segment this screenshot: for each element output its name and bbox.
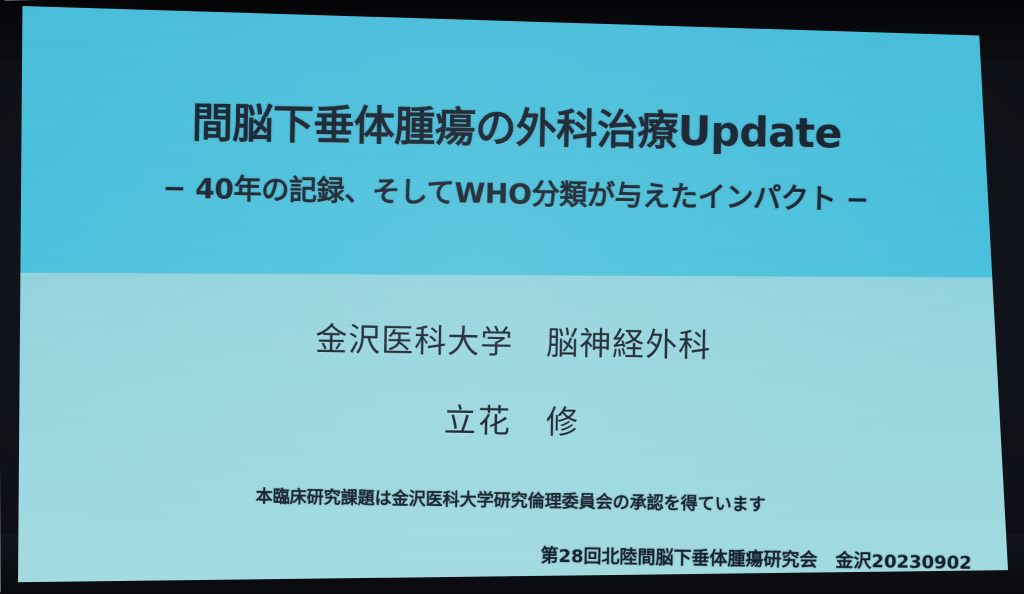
presentation-slide: 間脳下垂体腫瘍の外科治療Update − 40年の記録、そしてWHO分類が与えた… — [18, 6, 1010, 584]
ethics-approval-statement: 本臨床研究課題は金沢医科大学研究倫理委員会の承認を得ています — [15, 478, 1007, 519]
projected-slide-photo: 間脳下垂体腫瘍の外科治療Update − 40年の記録、そしてWHO分類が与えた… — [0, 0, 1024, 594]
presenter-name: 立花 修 — [16, 388, 1009, 450]
slide-subtitle: − 40年の記録、そしてWHO分類が与えたインパクト − — [20, 164, 1013, 220]
slide-title: 間脳下垂体腫瘍の外科治療Update — [20, 86, 1013, 162]
presenter-affiliation: 金沢医科大学 脳神経外科 — [17, 309, 1010, 371]
slide-canvas: 間脳下垂体腫瘍の外科治療Update − 40年の記録、そしてWHO分類が与えた… — [18, 6, 1010, 584]
slide-content: 間脳下垂体腫瘍の外科治療Update − 40年の記録、そしてWHO分類が与えた… — [13, 6, 1014, 594]
conference-footer-note: 第28回北陸間脳下垂体腫瘍研究会 金沢20230902 — [14, 533, 972, 575]
